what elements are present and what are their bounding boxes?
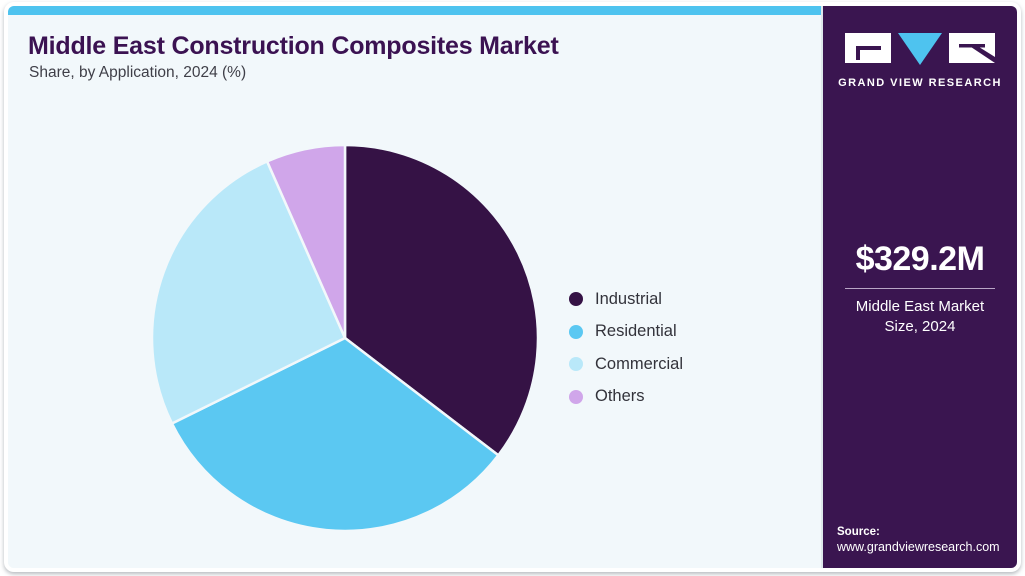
- pie-chart: [149, 142, 541, 534]
- market-size-stat: $329.2M Middle East Market Size, 2024: [823, 242, 1017, 337]
- market-size-caption-line2: Size, 2024: [823, 317, 1017, 337]
- infographic-card: Middle East Construction Composites Mark…: [4, 2, 1021, 572]
- chart-content-region: Middle East Construction Composites Mark…: [8, 15, 823, 568]
- market-size-caption: Middle East Market Size, 2024: [823, 297, 1017, 338]
- legend-swatch-icon: [569, 357, 583, 371]
- legend-swatch-icon: [569, 292, 583, 306]
- top-accent-bar: [8, 6, 823, 15]
- source-label: Source:: [837, 526, 1017, 538]
- legend-swatch-icon: [569, 325, 583, 339]
- pie-slice-group: [152, 145, 538, 531]
- chart-legend: IndustrialResidentialCommercialOthers: [569, 283, 683, 413]
- gvr-logo-icon: [845, 31, 995, 65]
- market-size-value: $329.2M: [823, 242, 1017, 278]
- brand-logo-text: GRAND VIEW RESEARCH: [823, 77, 1017, 89]
- brand-logo: GRAND VIEW RESEARCH: [823, 31, 1017, 89]
- infographic-root: Middle East Construction Composites Mark…: [0, 0, 1025, 576]
- legend-item-commercial[interactable]: Commercial: [569, 348, 683, 381]
- source-block: Source: www.grandviewresearch.com: [837, 526, 1017, 554]
- legend-swatch-icon: [569, 390, 583, 404]
- stat-divider: [845, 288, 995, 289]
- brand-panel: GRAND VIEW RESEARCH $329.2M Middle East …: [823, 6, 1017, 568]
- legend-label: Commercial: [595, 355, 683, 374]
- legend-item-industrial[interactable]: Industrial: [569, 283, 683, 316]
- source-url[interactable]: www.grandviewresearch.com: [837, 540, 1017, 554]
- legend-label: Residential: [595, 322, 677, 341]
- legend-label: Others: [595, 387, 645, 406]
- legend-item-others[interactable]: Others: [569, 381, 683, 414]
- page-title: Middle East Construction Composites Mark…: [28, 32, 559, 61]
- legend-item-residential[interactable]: Residential: [569, 316, 683, 349]
- page-subtitle: Share, by Application, 2024 (%): [29, 64, 246, 82]
- market-size-caption-line1: Middle East Market: [823, 297, 1017, 317]
- legend-label: Industrial: [595, 290, 662, 309]
